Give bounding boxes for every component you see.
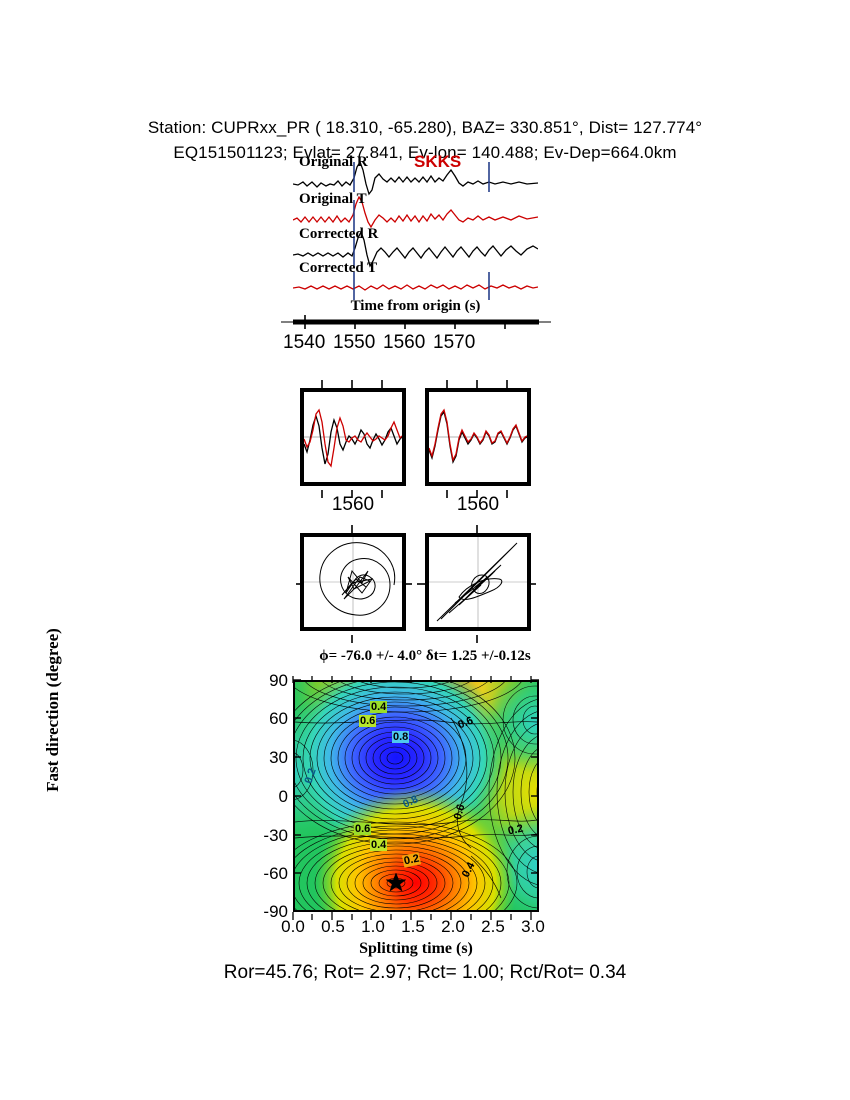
contour-title: ϕ= -76.0 +/- 4.0° δt= 1.25 +/-0.12s bbox=[0, 648, 850, 665]
particle-motion-ticks bbox=[296, 523, 536, 645]
xtick-3-0: 3.0 bbox=[510, 917, 556, 937]
fast-slow-uncorrected-tick: 1560 bbox=[305, 494, 401, 516]
waveform-panel: Original R Original T Corrected R Correc… bbox=[293, 160, 538, 300]
phase-label-skks: SKKS bbox=[414, 152, 461, 172]
ytick-0: 0 bbox=[248, 787, 288, 807]
ytick-30: 30 bbox=[248, 748, 288, 768]
contour-x-axis-title: Splitting time (s) bbox=[293, 940, 539, 958]
trace-corrected-t bbox=[293, 285, 538, 290]
quality-stats-line: Ror=45.76; Rot= 2.97; Rct= 1.00; Rct/Rot… bbox=[0, 962, 850, 984]
ytick-60: 60 bbox=[248, 709, 288, 729]
ytick-m30: -30 bbox=[248, 826, 288, 846]
header-station-line: Station: CUPRxx_PR ( 18.310, -65.280), B… bbox=[0, 115, 850, 140]
waveform-label-original-t: Original T bbox=[299, 191, 367, 208]
time-tick-1540: 1540 bbox=[283, 332, 323, 354]
contour-axis-ticks bbox=[285, 676, 547, 920]
time-tick-1560: 1560 bbox=[383, 332, 423, 354]
waveform-label-corrected-r: Corrected R bbox=[299, 226, 378, 243]
time-tick-1550: 1550 bbox=[333, 332, 373, 354]
fast-slow-corrected-tick: 1560 bbox=[430, 494, 526, 516]
time-tick-1570: 1570 bbox=[433, 332, 473, 354]
ytick-m60: -60 bbox=[248, 864, 288, 884]
time-axis-line bbox=[281, 314, 551, 330]
time-axis-title: Time from origin (s) bbox=[293, 298, 538, 315]
contour-y-axis-title: Fast direction (degree) bbox=[43, 595, 63, 825]
ytick-90: 90 bbox=[248, 671, 288, 691]
waveform-label-original-r: Original R bbox=[299, 154, 368, 171]
panel-pair-ticks bbox=[296, 378, 536, 500]
waveform-label-corrected-t: Corrected T bbox=[299, 260, 377, 277]
